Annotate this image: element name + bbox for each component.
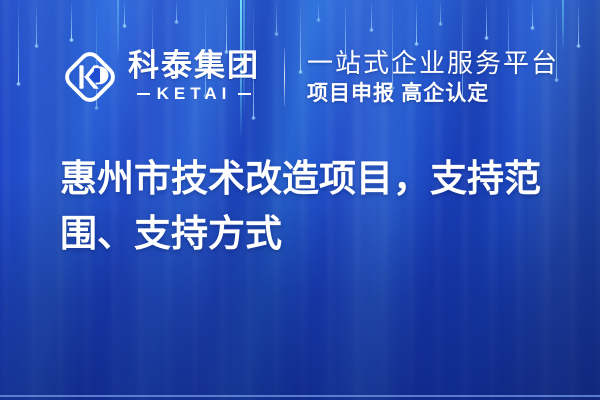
- light-streak: [71, 0, 72, 40]
- page-title: 惠州市技术改造项目，支持范围、支持方式: [60, 152, 558, 262]
- light-streak: [578, 0, 579, 46]
- header-taglines: 一站式企业服务平台 项目申报 高企认定: [307, 48, 559, 106]
- tagline-sub: 项目申报 高企认定: [307, 81, 559, 106]
- light-streak: [276, 0, 277, 34]
- light-streak: [532, 0, 533, 28]
- light-streak: [371, 0, 372, 30]
- light-streak: [176, 0, 177, 22]
- header-divider: [284, 48, 285, 106]
- light-streak: [124, 0, 125, 26]
- dash-left-icon: [137, 93, 150, 95]
- ketai-diamond-kd-monogram-icon: [62, 48, 118, 106]
- light-streak: [440, 0, 441, 24]
- logo-company-en: KETAI: [157, 84, 232, 104]
- light-streak: [318, 0, 319, 20]
- logo-block[interactable]: 科泰集团 KETAI: [62, 48, 260, 106]
- bottom-hairline: [0, 395, 600, 397]
- light-streak: [486, 0, 487, 38]
- dash-right-icon: [238, 93, 251, 95]
- logo-wordmark: 科泰集团 KETAI: [128, 50, 260, 104]
- promo-banner: 科泰集团 KETAI 一站式企业服务平台 项目申报 高企认定 惠州市技术改造项目…: [0, 0, 600, 400]
- light-streak: [36, 0, 37, 46]
- banner-header: 科泰集团 KETAI 一站式企业服务平台 项目申报 高企认定: [0, 42, 600, 112]
- logo-company-en-row: KETAI: [137, 84, 252, 104]
- logo-company-cn: 科泰集团: [128, 50, 260, 83]
- light-streak: [416, 0, 417, 44]
- tagline-main: 一站式企业服务平台: [307, 48, 559, 79]
